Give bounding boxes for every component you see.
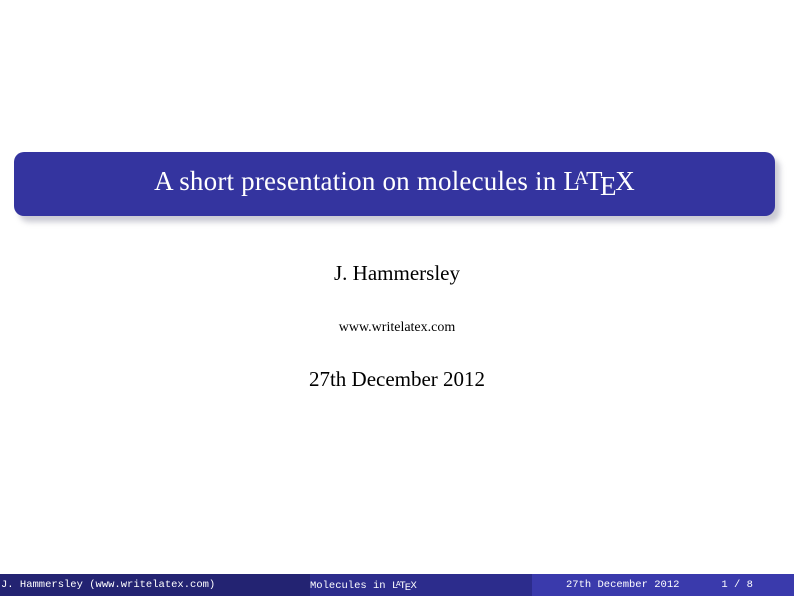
author-url: www.writelatex.com	[0, 321, 794, 335]
latex-logo: LATEX	[563, 168, 635, 201]
presentation-date: 27th December 2012	[0, 369, 794, 390]
footer-right-section: 27th December 2012 1 / 8	[532, 574, 794, 596]
presentation-title: A short presentation on molecules in LAT…	[154, 168, 635, 201]
title-text-prefix: A short presentation on molecules in	[154, 166, 563, 196]
footer-title-prefix: Molecules in	[310, 580, 392, 592]
latex-logo-x: X	[615, 166, 635, 196]
footer-date: 27th December 2012	[566, 574, 679, 596]
author-name: J. Hammersley	[0, 263, 794, 284]
title-block: A short presentation on molecules in LAT…	[14, 152, 775, 216]
footer-page-number: 1 / 8	[721, 574, 753, 596]
footer-latex-logo: LATEX	[392, 574, 417, 596]
footer-bar: J. Hammersley (www.writelatex.com) Molec…	[0, 574, 794, 596]
footer-author: J. Hammersley (www.writelatex.com)	[0, 574, 310, 596]
footer-title: Molecules in LATEX	[310, 574, 532, 596]
title-block-container: A short presentation on molecules in LAT…	[14, 152, 775, 216]
footer-latex-logo-x: X	[411, 580, 417, 592]
